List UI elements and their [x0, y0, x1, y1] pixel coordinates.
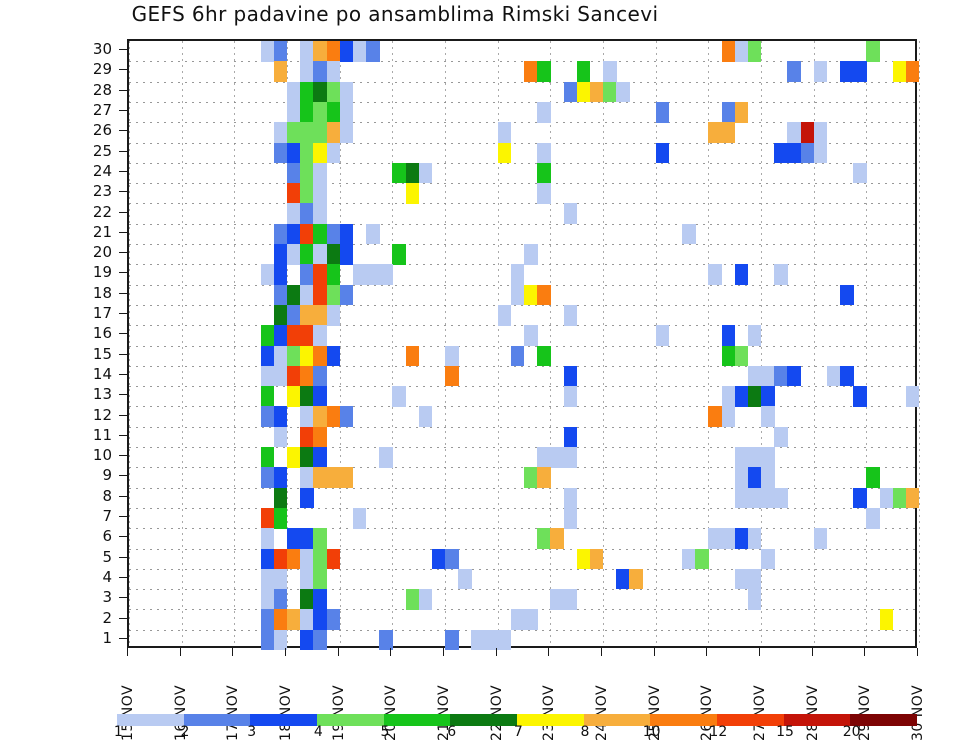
heatmap-cell [511, 264, 525, 285]
heatmap-cell [537, 102, 551, 123]
heatmap-cell [419, 163, 433, 184]
heatmap-cell [327, 305, 341, 326]
heatmap-cell [406, 346, 420, 367]
y-axis-label: 29 [60, 60, 112, 78]
heatmap-cell [313, 609, 327, 630]
heatmap-cell [787, 143, 801, 164]
y-axis-tick [119, 475, 127, 476]
heatmap-cell [327, 102, 341, 123]
heatmap-cell [814, 122, 828, 143]
heatmap-cell [419, 589, 433, 610]
heatmap-cell [300, 366, 314, 387]
y-axis-label: 20 [60, 243, 112, 261]
heatmap-cell [366, 224, 380, 245]
y-axis-tick [119, 557, 127, 558]
heatmap-cell [814, 143, 828, 164]
y-axis-label: 19 [60, 263, 112, 281]
heatmap-cell [313, 82, 327, 103]
heatmap-cell [498, 122, 512, 143]
y-axis-label: 22 [60, 203, 112, 221]
heatmap-cell [300, 183, 314, 204]
heatmap-cell [313, 528, 327, 549]
heatmap-cell [735, 102, 749, 123]
heatmap-cell [564, 427, 578, 448]
heatmap-cell [287, 447, 301, 468]
heatmap-cell [313, 264, 327, 285]
heatmap-cell [761, 467, 775, 488]
heatmap-cell [840, 285, 854, 306]
y-axis-tick [119, 252, 127, 253]
heatmap-cell [313, 183, 327, 204]
heatmap-cell [366, 41, 380, 62]
heatmap-cell [537, 143, 551, 164]
y-axis-label: 30 [60, 40, 112, 58]
heatmap-cell [313, 386, 327, 407]
colorbar-tick-label: 6 [447, 724, 456, 740]
heatmap-cell [735, 264, 749, 285]
heatmap-cell [511, 285, 525, 306]
heatmap-cell [722, 346, 736, 367]
heatmap-cell [550, 528, 564, 549]
heatmap-plot-area [127, 39, 917, 648]
heatmap-cell [761, 366, 775, 387]
heatmap-cell [577, 549, 591, 570]
heatmap-cell [708, 122, 722, 143]
y-axis-label: 13 [60, 385, 112, 403]
heatmap-cell [261, 508, 275, 529]
y-axis-tick [119, 394, 127, 395]
heatmap-cell [300, 528, 314, 549]
heatmap-cell [748, 488, 762, 509]
heatmap-cell [313, 61, 327, 82]
heatmap-cell [300, 406, 314, 427]
heatmap-cell [287, 346, 301, 367]
heatmap-cell [445, 346, 459, 367]
heatmap-cell [880, 609, 894, 630]
heatmap-cell [287, 366, 301, 387]
y-axis-label: 8 [60, 487, 112, 505]
heatmap-cell [313, 163, 327, 184]
heatmap-cell [379, 264, 393, 285]
y-axis-label: 6 [60, 527, 112, 545]
heatmap-cell [761, 386, 775, 407]
heatmap-cell [840, 61, 854, 82]
colorbar-tick-label: 20 [843, 724, 861, 740]
heatmap-cell [313, 366, 327, 387]
heatmap-cell [656, 102, 670, 123]
heatmap-cell [392, 163, 406, 184]
heatmap-cell [274, 61, 288, 82]
heatmap-cell [300, 41, 314, 62]
heatmap-cell [761, 406, 775, 427]
heatmap-cell [313, 305, 327, 326]
heatmap-cell [708, 528, 722, 549]
heatmap-cell [327, 244, 341, 265]
y-axis-label: 23 [60, 182, 112, 200]
heatmap-cell [906, 61, 920, 82]
heatmap-cell [735, 467, 749, 488]
heatmap-cell [300, 285, 314, 306]
heatmap-cell [445, 549, 459, 570]
heatmap-cell [629, 569, 643, 590]
heatmap-cell [274, 508, 288, 529]
heatmap-cell [577, 82, 591, 103]
heatmap-cell [300, 609, 314, 630]
heatmap-cell [893, 488, 907, 509]
heatmap-cell [287, 305, 301, 326]
heatmap-cells [129, 41, 915, 646]
heatmap-cell [313, 41, 327, 62]
heatmap-cell [274, 467, 288, 488]
heatmap-cell [261, 325, 275, 346]
y-axis-label: 18 [60, 284, 112, 302]
heatmap-cell [313, 102, 327, 123]
heatmap-cell [722, 102, 736, 123]
heatmap-cell [564, 447, 578, 468]
heatmap-cell [774, 427, 788, 448]
y-axis-label: 16 [60, 324, 112, 342]
heatmap-cell [287, 285, 301, 306]
heatmap-cell [274, 589, 288, 610]
heatmap-cell [261, 569, 275, 590]
heatmap-cell [537, 163, 551, 184]
colorbar-tick-label: 15 [776, 724, 794, 740]
heatmap-cell [313, 203, 327, 224]
heatmap-cell [722, 406, 736, 427]
heatmap-cell [313, 427, 327, 448]
colorbar-tick-label: 7 [514, 724, 523, 740]
heatmap-cell [814, 61, 828, 82]
y-axis-tick [119, 374, 127, 375]
y-axis-tick [119, 49, 127, 50]
colorbar-tick-label: 1 [114, 724, 123, 740]
heatmap-cell [327, 467, 341, 488]
heatmap-cell [524, 285, 538, 306]
heatmap-cell [906, 386, 920, 407]
colorbar-tick-label: 4 [314, 724, 323, 740]
colorbar-tick-label: 2 [181, 724, 190, 740]
heatmap-cell [827, 366, 841, 387]
heatmap-cell [300, 163, 314, 184]
y-axis-tick [119, 90, 127, 91]
chart-page: GEFS 6hr padavine po ansamblima Rimski S… [0, 0, 960, 742]
heatmap-cell [524, 609, 538, 630]
heatmap-cell [787, 366, 801, 387]
heatmap-cell [327, 61, 341, 82]
heatmap-cell [774, 366, 788, 387]
y-axis-label: 27 [60, 101, 112, 119]
heatmap-cell [300, 102, 314, 123]
heatmap-cell [564, 305, 578, 326]
heatmap-cell [313, 325, 327, 346]
heatmap-cell [866, 508, 880, 529]
heatmap-cell [616, 82, 630, 103]
heatmap-cell [287, 122, 301, 143]
heatmap-cell [735, 41, 749, 62]
y-axis-label: 9 [60, 466, 112, 484]
heatmap-cell [708, 406, 722, 427]
heatmap-cell [300, 122, 314, 143]
heatmap-cell [406, 163, 420, 184]
y-axis-tick [119, 455, 127, 456]
heatmap-cell [340, 41, 354, 62]
heatmap-cell [313, 589, 327, 610]
y-axis-tick [119, 333, 127, 334]
heatmap-cell [340, 102, 354, 123]
heatmap-cell [274, 366, 288, 387]
heatmap-cell [287, 102, 301, 123]
heatmap-cell [327, 609, 341, 630]
heatmap-cell [550, 589, 564, 610]
heatmap-cell [801, 122, 815, 143]
heatmap-cell [300, 61, 314, 82]
heatmap-cell [274, 305, 288, 326]
heatmap-cell [774, 488, 788, 509]
heatmap-cell [537, 61, 551, 82]
heatmap-cell [300, 569, 314, 590]
heatmap-cell [274, 244, 288, 265]
y-axis-label: 17 [60, 304, 112, 322]
heatmap-cell [722, 122, 736, 143]
y-axis-tick [119, 516, 127, 517]
y-axis-label: 21 [60, 223, 112, 241]
heatmap-cell [590, 549, 604, 570]
heatmap-cell [274, 569, 288, 590]
heatmap-cell [274, 41, 288, 62]
y-axis-tick [119, 435, 127, 436]
heatmap-cell [261, 528, 275, 549]
heatmap-cell [406, 589, 420, 610]
heatmap-cell [287, 143, 301, 164]
heatmap-cell [840, 366, 854, 387]
y-axis-label: 12 [60, 406, 112, 424]
heatmap-cell [748, 366, 762, 387]
heatmap-cell [774, 264, 788, 285]
heatmap-cell [880, 488, 894, 509]
heatmap-cell [327, 346, 341, 367]
heatmap-cell [722, 41, 736, 62]
heatmap-cell [656, 143, 670, 164]
heatmap-cell [735, 386, 749, 407]
heatmap-cell [603, 61, 617, 82]
heatmap-cell [853, 163, 867, 184]
heatmap-cell [340, 82, 354, 103]
heatmap-cell [682, 224, 696, 245]
heatmap-cell [327, 224, 341, 245]
heatmap-cell [300, 325, 314, 346]
heatmap-cell [748, 325, 762, 346]
heatmap-cell [761, 447, 775, 468]
y-axis-label: 11 [60, 426, 112, 444]
y-axis-label: 10 [60, 446, 112, 464]
y-axis-label: 25 [60, 142, 112, 160]
heatmap-cell [735, 569, 749, 590]
heatmap-cell [261, 41, 275, 62]
y-axis-tick [119, 536, 127, 537]
y-axis-label: 5 [60, 548, 112, 566]
heatmap-cell [735, 447, 749, 468]
y-axis-tick [119, 638, 127, 639]
heatmap-cell [261, 264, 275, 285]
y-axis-tick [119, 191, 127, 192]
y-axis-label: 14 [60, 365, 112, 383]
heatmap-cell [313, 406, 327, 427]
heatmap-cell [577, 61, 591, 82]
heatmap-cell [511, 609, 525, 630]
heatmap-cell [340, 224, 354, 245]
heatmap-cell [722, 386, 736, 407]
heatmap-cell [261, 549, 275, 570]
heatmap-cell [327, 549, 341, 570]
heatmap-cell [287, 325, 301, 346]
y-axis-tick [119, 618, 127, 619]
heatmap-cell [735, 346, 749, 367]
heatmap-cell [564, 589, 578, 610]
heatmap-cell [893, 61, 907, 82]
heatmap-cell [748, 589, 762, 610]
heatmap-cell [287, 163, 301, 184]
heatmap-cell [313, 122, 327, 143]
y-axis-tick [119, 313, 127, 314]
heatmap-cell [300, 467, 314, 488]
heatmap-cell [287, 82, 301, 103]
heatmap-cell [564, 386, 578, 407]
heatmap-cell [708, 264, 722, 285]
heatmap-cell [300, 386, 314, 407]
heatmap-cell [616, 569, 630, 590]
heatmap-cell [722, 325, 736, 346]
heatmap-cell [537, 285, 551, 306]
heatmap-cell [313, 549, 327, 570]
heatmap-cell [353, 264, 367, 285]
heatmap-cell [445, 630, 459, 651]
heatmap-cell [866, 467, 880, 488]
heatmap-cell [327, 285, 341, 306]
heatmap-cell [774, 143, 788, 164]
heatmap-cell [261, 386, 275, 407]
y-axis-label: 26 [60, 121, 112, 139]
heatmap-cell [327, 122, 341, 143]
heatmap-cell [300, 82, 314, 103]
heatmap-cell [274, 143, 288, 164]
colorbar-tick-label: 10 [643, 724, 661, 740]
heatmap-cell [300, 244, 314, 265]
heatmap-cell [761, 488, 775, 509]
heatmap-cell [511, 346, 525, 367]
heatmap-cell [340, 285, 354, 306]
heatmap-cell [564, 203, 578, 224]
heatmap-cell [866, 41, 880, 62]
heatmap-cell [261, 467, 275, 488]
heatmap-cell [261, 406, 275, 427]
heatmap-cell [340, 467, 354, 488]
heatmap-cell [682, 549, 696, 570]
heatmap-cell [498, 143, 512, 164]
y-axis-tick [119, 577, 127, 578]
heatmap-cell [471, 630, 485, 651]
heatmap-cell [590, 82, 604, 103]
y-axis-label: 7 [60, 507, 112, 525]
heatmap-cell [313, 569, 327, 590]
heatmap-cell [537, 346, 551, 367]
heatmap-cell [274, 346, 288, 367]
heatmap-cell [748, 569, 762, 590]
heatmap-cell [300, 488, 314, 509]
y-axis-label: 4 [60, 568, 112, 586]
heatmap-cell [748, 528, 762, 549]
heatmap-cell [327, 143, 341, 164]
heatmap-cell [458, 569, 472, 590]
heatmap-cell [313, 346, 327, 367]
heatmap-cell [748, 447, 762, 468]
heatmap-cell [353, 508, 367, 529]
y-axis-tick [119, 597, 127, 598]
heatmap-cell [300, 447, 314, 468]
heatmap-cell [853, 61, 867, 82]
heatmap-cell [274, 549, 288, 570]
heatmap-cell [524, 244, 538, 265]
heatmap-cell [300, 589, 314, 610]
y-axis-tick [119, 415, 127, 416]
heatmap-cell [313, 143, 327, 164]
heatmap-cell [274, 427, 288, 448]
heatmap-cell [300, 264, 314, 285]
heatmap-cell [274, 406, 288, 427]
heatmap-cell [906, 488, 920, 509]
heatmap-cell [261, 346, 275, 367]
heatmap-cell [735, 528, 749, 549]
colorbar-tick-label: 8 [581, 724, 590, 740]
y-axis-tick [119, 293, 127, 294]
heatmap-cell [340, 244, 354, 265]
heatmap-cell [327, 41, 341, 62]
heatmap-cell [379, 447, 393, 468]
heatmap-cell [603, 82, 617, 103]
heatmap-cell [327, 264, 341, 285]
heatmap-cell [274, 122, 288, 143]
y-axis-tick [119, 151, 127, 152]
heatmap-cell [300, 346, 314, 367]
heatmap-cell [748, 467, 762, 488]
y-axis-tick [119, 232, 127, 233]
heatmap-cell [564, 488, 578, 509]
heatmap-cell [274, 264, 288, 285]
heatmap-cell [261, 366, 275, 387]
heatmap-cell [287, 244, 301, 265]
y-axis-tick [119, 110, 127, 111]
colorbar-tick-label: 3 [247, 724, 256, 740]
heatmap-cell [695, 549, 709, 570]
heatmap-cell [564, 82, 578, 103]
y-axis-label: 28 [60, 81, 112, 99]
heatmap-cell [261, 630, 275, 651]
heatmap-cell [524, 61, 538, 82]
heatmap-cell [524, 325, 538, 346]
colorbar-tick-label: 12 [709, 724, 727, 740]
y-axis-label: 3 [60, 588, 112, 606]
heatmap-cell [340, 406, 354, 427]
heatmap-cell [537, 183, 551, 204]
y-axis-label: 24 [60, 162, 112, 180]
y-axis-label: 15 [60, 345, 112, 363]
heatmap-cell [722, 528, 736, 549]
heatmap-cell [656, 325, 670, 346]
heatmap-cell [287, 386, 301, 407]
page-title: GEFS 6hr padavine po ansamblima Rimski S… [0, 2, 790, 26]
heatmap-cell [274, 488, 288, 509]
y-axis-tick [119, 496, 127, 497]
colorbar-tick-label: 5 [381, 724, 390, 740]
